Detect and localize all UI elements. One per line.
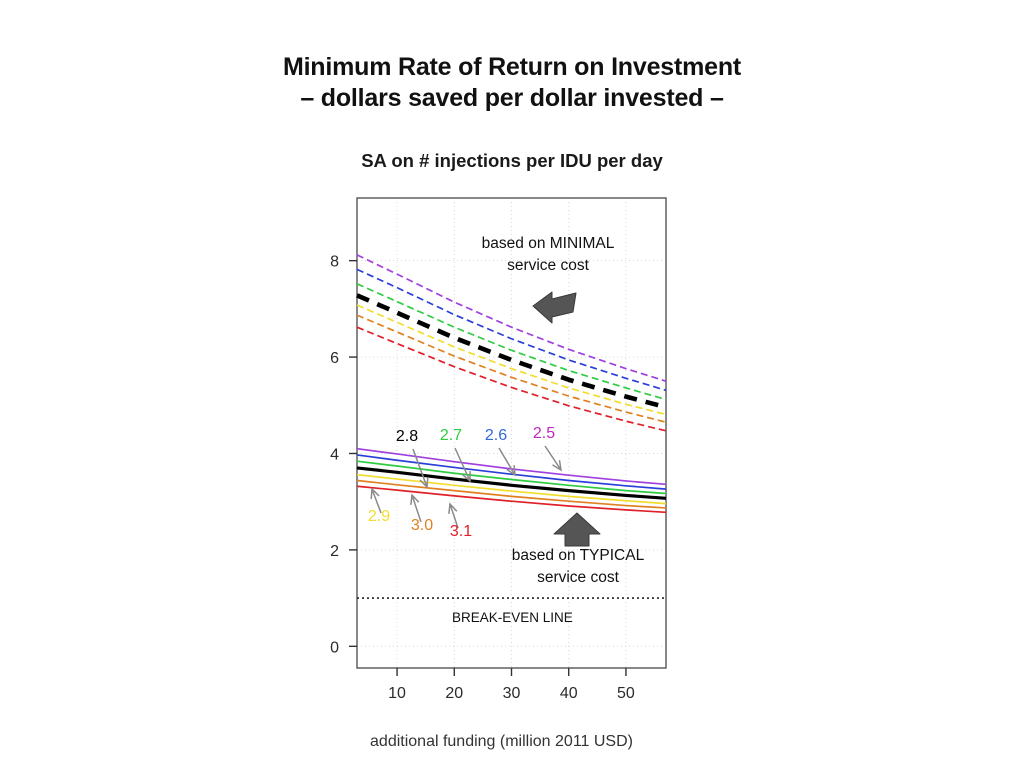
minimal-cost-note-line2: service cost xyxy=(507,257,590,274)
x-axis-title: additional funding (million 2011 USD) xyxy=(370,733,633,750)
x-tick-label: 20 xyxy=(445,685,463,702)
data-label-2.5: 2.5 xyxy=(533,425,555,442)
data-label-3.1: 3.1 xyxy=(450,523,472,540)
series-line-minimal-service-cost-2.6 xyxy=(357,269,666,390)
minimal-cost-note-line1: based on MINIMAL xyxy=(482,235,615,252)
x-tick-label: 10 xyxy=(388,685,406,702)
data-label-2.6: 2.6 xyxy=(485,427,507,444)
typical-cost-arrow-icon xyxy=(554,513,600,546)
typical-cost-note-line2: service cost xyxy=(537,569,620,586)
typical-cost-note-line1: based on TYPICAL xyxy=(512,547,645,564)
data-label-2.7: 2.7 xyxy=(440,427,462,444)
leader-line-2.7 xyxy=(455,448,470,481)
y-tick-label: 0 xyxy=(330,639,339,656)
y-tick-label: 8 xyxy=(330,254,339,271)
x-tick-label: 30 xyxy=(503,685,521,702)
chart-plot-area: 024681020304050additional funding (milli… xyxy=(0,0,1024,768)
leader-line-2.6 xyxy=(499,448,515,475)
x-tick-label: 40 xyxy=(560,685,578,702)
minimal-cost-arrow-icon xyxy=(533,292,576,323)
leader-line-2.5 xyxy=(545,446,561,470)
chart-svg: 024681020304050additional funding (milli… xyxy=(0,0,1024,768)
data-label-2.8: 2.8 xyxy=(396,428,418,445)
y-tick-label: 2 xyxy=(330,543,339,560)
y-tick-label: 4 xyxy=(330,446,339,463)
x-tick-label: 50 xyxy=(617,685,635,702)
leader-arrowhead-2.5 xyxy=(553,460,561,470)
break-even-label: BREAK-EVEN LINE xyxy=(452,610,573,625)
data-label-2.9: 2.9 xyxy=(368,508,390,525)
data-label-3.0: 3.0 xyxy=(411,517,433,534)
slide-canvas: Minimum Rate of Return on Investment – d… xyxy=(0,0,1024,768)
y-tick-label: 6 xyxy=(330,350,339,367)
